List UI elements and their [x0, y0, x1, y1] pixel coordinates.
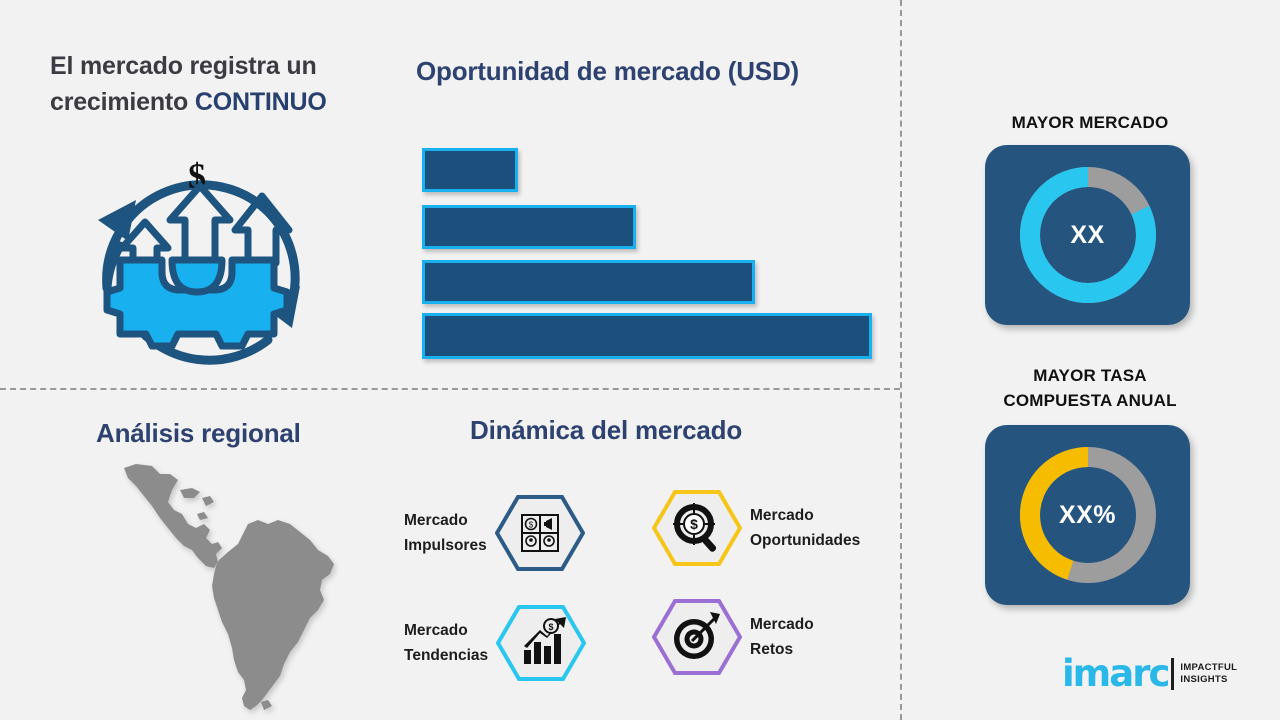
bar-1 — [422, 148, 518, 192]
dynamics-item-oportunidades[interactable]: $ Mercado Oportunidades — [652, 489, 860, 567]
bar-4 — [422, 313, 872, 359]
dynamics-item-tendencias-label: Mercado Tendencias — [404, 618, 488, 668]
growth-title: El mercado registra un crecimiento CONTI… — [50, 48, 400, 120]
regional-title: Análisis regional — [96, 418, 301, 449]
dyn-label-line2: Retos — [750, 641, 793, 658]
bar-3 — [422, 260, 755, 304]
dyn-label-line1: Mercado — [750, 507, 814, 524]
highest-cagr-value: XX% — [985, 425, 1190, 605]
logo-tagline-line1: IMPACTFUL — [1180, 662, 1237, 673]
imarc-logo-tagline: IMPACTFUL INSIGHTS — [1180, 662, 1237, 686]
growth-gear-arrows-icon: $ — [72, 138, 322, 370]
highest-cagr-donut-card: XX% — [985, 425, 1190, 605]
imarc-logo: imarc IMPACTFUL INSIGHTS — [1062, 655, 1237, 692]
dyn-label-line1: Mercado — [404, 512, 468, 529]
vertical-divider — [900, 0, 902, 720]
dynamics-item-oportunidades-label: Mercado Oportunidades — [750, 503, 860, 553]
dyn-label-line1: Mercado — [750, 616, 814, 633]
dyn-label-line1: Mercado — [404, 622, 468, 639]
largest-market-value: XX — [985, 145, 1190, 325]
puzzle-pieces-icon: $ — [495, 494, 585, 572]
dynamics-item-tendencias[interactable]: Mercado Tendencias $ — [404, 604, 586, 682]
logo-tagline-line2: INSIGHTS — [1180, 674, 1227, 685]
largest-market-donut-card: XX — [985, 145, 1190, 325]
imarc-logo-mark: imarc — [1062, 655, 1168, 692]
dynamics-item-impulsores-label: Mercado Impulsores — [404, 508, 487, 558]
svg-text:$: $ — [690, 516, 698, 532]
dynamics-item-retos-label: Mercado Retos — [750, 612, 814, 662]
dyn-label-line2: Oportunidades — [750, 532, 860, 549]
horizontal-divider — [0, 388, 900, 390]
opportunity-title: Oportunidad de mercado (USD) — [416, 56, 799, 87]
infographic-page: El mercado registra un crecimiento CONTI… — [0, 0, 1280, 720]
magnifier-dollar-icon: $ — [652, 489, 742, 567]
highest-cagr-title-line1: MAYOR TASA — [1033, 366, 1146, 385]
largest-market-title: MAYOR MERCADO — [940, 110, 1240, 135]
bar-2 — [422, 205, 636, 249]
growth-title-line1: El mercado registra un — [50, 52, 317, 80]
opportunity-bar-chart — [420, 148, 880, 348]
svg-text:$: $ — [549, 622, 554, 632]
highest-cagr-title: MAYOR TASA COMPUESTA ANUAL — [940, 363, 1240, 413]
latin-america-map — [122, 462, 357, 714]
highest-cagr-title-line2: COMPUESTA ANUAL — [1003, 391, 1176, 410]
growth-title-accent: CONTINUO — [195, 88, 327, 116]
dyn-label-line2: Tendencias — [404, 647, 488, 664]
dynamics-title: Dinámica del mercado — [470, 415, 742, 446]
dynamics-item-retos[interactable]: Mercado Retos — [652, 598, 814, 676]
dynamics-item-impulsores[interactable]: Mercado Impulsores $ — [404, 494, 585, 572]
logo-separator — [1171, 658, 1174, 690]
growth-bar-chart-icon: $ — [496, 604, 586, 682]
target-arrow-icon — [652, 598, 742, 676]
dyn-label-line2: Impulsores — [404, 537, 487, 554]
svg-text:$: $ — [528, 521, 533, 530]
growth-title-line2-prefix: crecimiento — [50, 88, 195, 116]
